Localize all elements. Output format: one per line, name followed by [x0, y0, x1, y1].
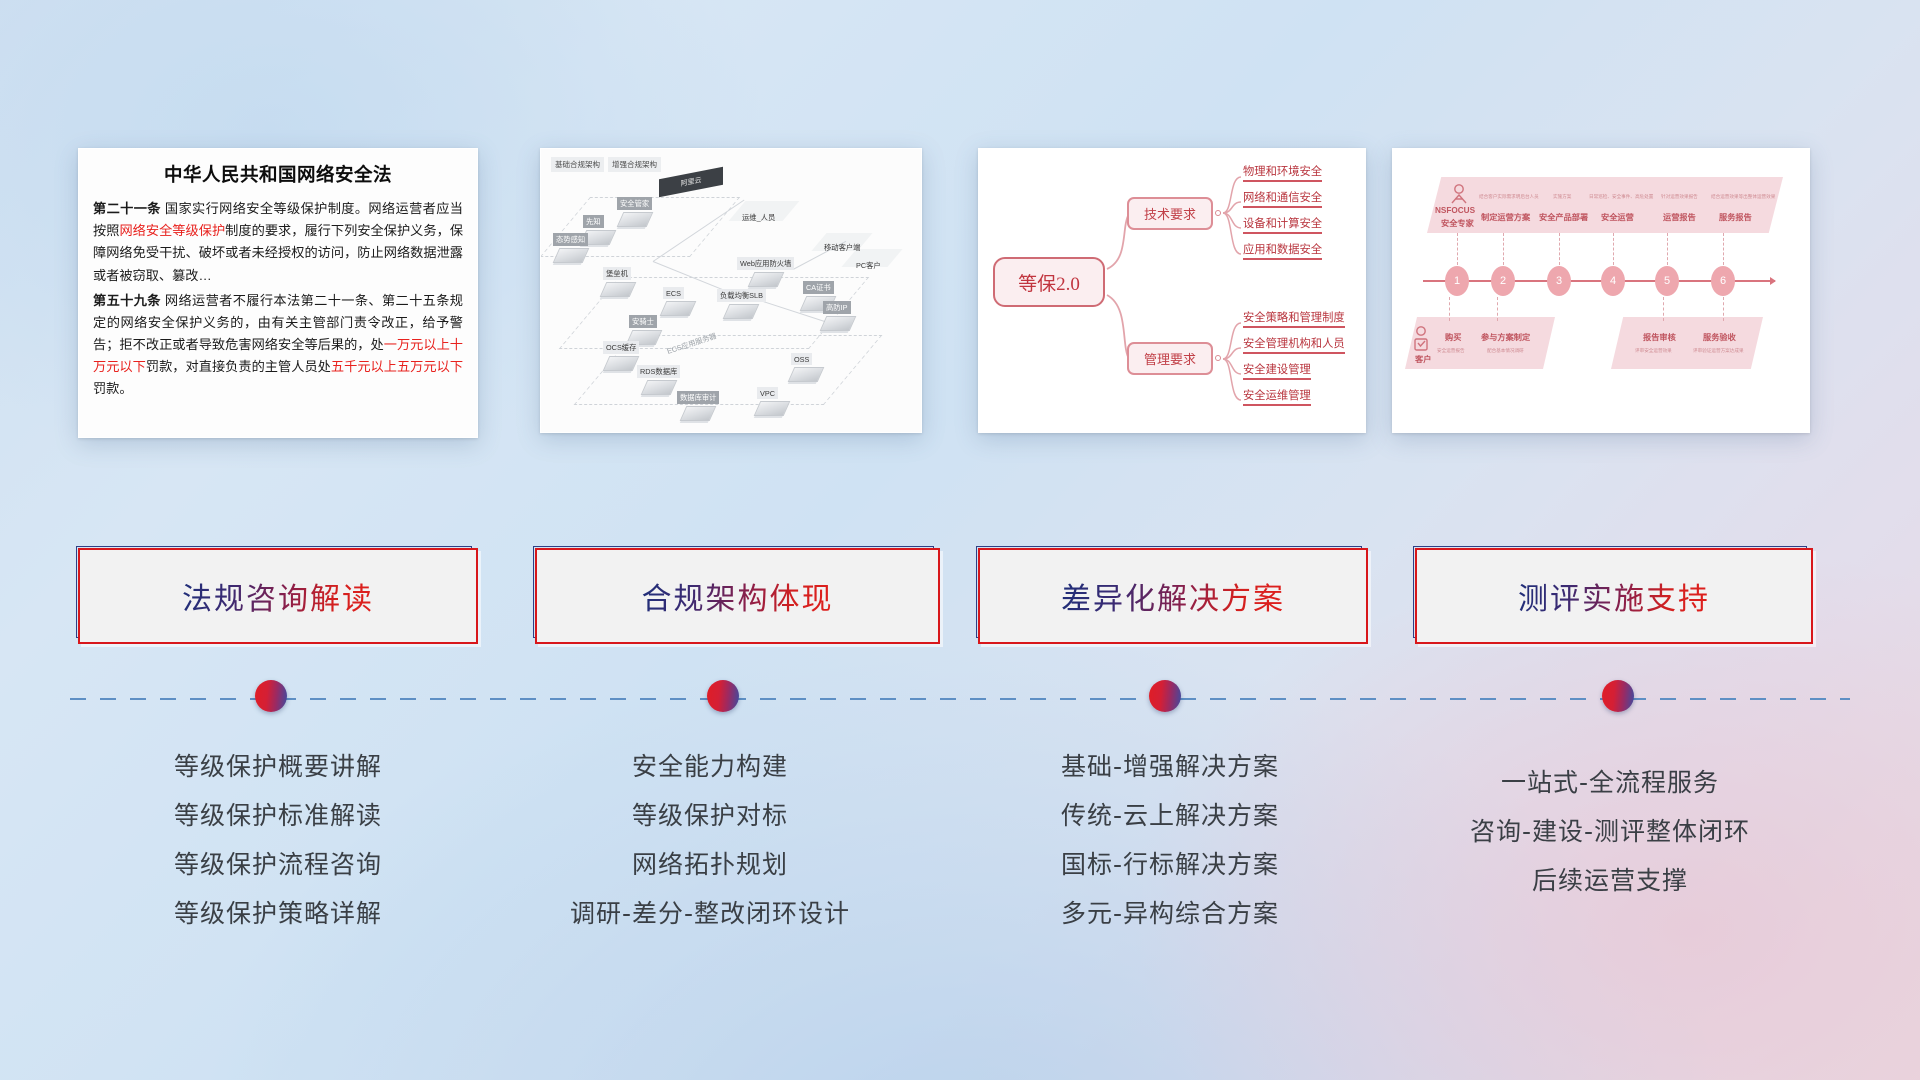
list-item: 等级保护概要讲解: [78, 742, 478, 791]
arch-node-security-butler: 安全管家: [617, 197, 652, 227]
list-item: 咨询-建设-测评整体闭环: [1400, 807, 1820, 856]
article-59-highlight-2: 五千元以上五万元以下: [331, 359, 463, 374]
roadmap-bottom-title-4: 服务验收: [1703, 331, 1736, 343]
cube-icon: [640, 380, 677, 395]
list-item: 调研-差分-整改闭环设计: [500, 889, 920, 938]
mindmap-leaf-app-data: 应用和数据安全: [1243, 241, 1322, 262]
arch-node-bastion-host: 堡垒机: [603, 267, 633, 297]
list-item: 网络拓扑规划: [500, 840, 920, 889]
roadmap-bottom-title-3: 报告审核: [1643, 331, 1676, 343]
arch-node-db-audit: 数据库审计: [677, 391, 719, 421]
arch-node-oss: OSS: [791, 353, 821, 382]
architecture-diagram: 基础合规架构 增强合规架构 阿里云 安全管家 先: [541, 149, 921, 432]
article-21-highlight: 网络安全等级保护: [119, 223, 225, 238]
roadmap-bottom-title-1: 购买: [1445, 331, 1461, 343]
cube-icon: [723, 304, 760, 319]
arch-node-slb: 负载均衡SLB: [717, 289, 766, 319]
roadmap-provider-name-line1: NSFOCUS: [1435, 206, 1475, 215]
roadmap-leader-b2: [1497, 297, 1498, 321]
roadmap-provider-name-line2: 安全专家: [1441, 217, 1474, 229]
cube-icon: [600, 282, 637, 297]
mindmap-leaf-ops-mgmt: 安全运维管理: [1243, 387, 1311, 408]
arch-node-situation-awareness: 态势感知: [553, 233, 588, 263]
article-59-text-b: 罚款，对直接负责的主管人员处: [146, 359, 331, 374]
list-item: 基础-增强解决方案: [960, 742, 1380, 791]
headline-box-regulation-consulting[interactable]: 法规咨询解读: [78, 548, 478, 644]
roadmap-top-title-2: 安全产品部署: [1539, 211, 1588, 223]
cube-icon: [747, 272, 784, 287]
mindmap-collapse-dot-management[interactable]: [1215, 355, 1221, 361]
roadmap-step-1[interactable]: 1: [1445, 266, 1469, 296]
service-roadmap-card[interactable]: NSFOCUS 安全专家 客户 结合客户实际需求明后台人员 制定运营方案 实施方…: [1392, 148, 1810, 433]
mindmap-branch-management[interactable]: 管理要求: [1127, 342, 1213, 375]
mindmap-leaf-physical-env: 物理和环境安全: [1243, 163, 1322, 184]
roadmap-top-title-1: 制定运营方案: [1481, 211, 1530, 223]
mindmap-leaf-device-compute: 设备和计算安全: [1243, 215, 1322, 236]
roadmap-bottom-sub-2: 配合基本情况调研: [1487, 348, 1524, 354]
cube-icon: [616, 212, 653, 227]
slide-canvas: 中华人民共和国网络安全法 第二十一条 国家实行网络安全等级保护制度。网络运营者应…: [0, 0, 1920, 1080]
timeline: [0, 694, 1920, 704]
arch-node-ops-staff: 运维_人员: [739, 211, 778, 224]
cloud-architecture-card[interactable]: 基础合规架构 增强合规架构 阿里云 安全管家 先: [540, 148, 922, 433]
timeline-dot-2[interactable]: [707, 680, 739, 712]
roadmap-leader-5: [1667, 233, 1668, 265]
dengbao-mindmap: 等保2.0 技术要求 物理和环境安全 网络和通信安全 设备和计算安全 应用和数据…: [979, 149, 1365, 432]
headline-label-2: 合规架构体现: [642, 574, 834, 618]
roadmap-step-3[interactable]: 3: [1547, 266, 1571, 296]
cloud-provider-banner: 阿里云: [659, 167, 723, 197]
roadmap-customer-name: 客户: [1415, 353, 1431, 365]
list-item: 后续运营支撑: [1400, 856, 1820, 905]
roadmap-top-sub-3: 日常巡检、安全事件、高危处置: [1589, 194, 1653, 200]
roadmap-leader-6: [1723, 233, 1724, 265]
list-item: 一站式-全流程服务: [1400, 758, 1820, 807]
roadmap-top-sub-2: 实施方案: [1553, 194, 1571, 200]
cube-icon: [680, 406, 717, 421]
headline-label-3: 差异化解决方案: [1061, 574, 1285, 618]
roadmap-bottom-sub-3: 评审安全运营效果: [1635, 348, 1672, 354]
timeline-dot-4[interactable]: [1602, 680, 1634, 712]
roadmap-bottom-sub-4: 评审验证运营方案达成果: [1693, 348, 1744, 354]
law-title: 中华人民共和国网络安全法: [93, 161, 463, 187]
arch-node-ecs: ECS: [663, 287, 693, 316]
cube-icon: [820, 316, 857, 331]
arch-node-pc-client: PC客户: [853, 259, 884, 272]
roadmap-top-sub-5: 结合运营效果等出整体运营效果: [1711, 194, 1775, 200]
cube-icon: [660, 301, 697, 316]
cube-icon: [754, 401, 791, 416]
roadmap-step-2[interactable]: 2: [1491, 266, 1515, 296]
arch-node-waf: Web应用防火墙: [737, 257, 794, 287]
list-item: 多元-异构综合方案: [960, 889, 1380, 938]
cube-icon: [788, 367, 825, 382]
article-21-label: 第二十一条: [93, 201, 161, 216]
roadmap-leader-1: [1457, 233, 1458, 265]
roadmap-top-title-3: 安全运营: [1601, 211, 1634, 223]
timeline-dot-1[interactable]: [255, 680, 287, 712]
list-item: 等级保护标准解读: [78, 791, 478, 840]
nsfocus-roadmap: NSFOCUS 安全专家 客户 结合客户实际需求明后台人员 制定运营方案 实施方…: [1393, 149, 1809, 432]
mindmap-card[interactable]: 等保2.0 技术要求 物理和环境安全 网络和通信安全 设备和计算安全 应用和数据…: [978, 148, 1366, 433]
article-59-label: 第五十九条: [93, 293, 161, 308]
roadmap-top-title-4: 运营报告: [1663, 211, 1696, 223]
roadmap-top-sub-1: 结合客户实际需求明后台人员: [1479, 194, 1539, 200]
timeline-dashed-line: [70, 698, 1850, 700]
headline-label-1: 法规咨询解读: [182, 574, 374, 618]
architecture-tagbar: 基础合规架构 增强合规架构: [551, 157, 661, 172]
arch-tag-basic: 基础合规架构: [551, 157, 604, 172]
roadmap-leader-b4: [1723, 297, 1724, 321]
arch-node-ocs-cache: OCS缓存: [603, 341, 639, 371]
headline-box-assessment-support[interactable]: 测评实施支持: [1415, 548, 1813, 644]
list-item: 传统-云上解决方案: [960, 791, 1380, 840]
cube-icon: [603, 356, 640, 371]
list-item: 安全能力构建: [500, 742, 920, 791]
detail-column-4: 一站式-全流程服务 咨询-建设-测评整体闭环 后续运营支撑: [1400, 758, 1820, 905]
mindmap-collapse-dot-technical[interactable]: [1215, 210, 1221, 216]
arch-tag-enhanced: 增强合规架构: [608, 157, 661, 172]
cube-icon: [552, 248, 589, 263]
detail-list-row: 等级保护概要讲解 等级保护标准解读 等级保护流程咨询 等级保护策略详解 安全能力…: [0, 742, 1920, 962]
roadmap-leader-3: [1559, 233, 1560, 265]
law-text-card[interactable]: 中华人民共和国网络安全法 第二十一条 国家实行网络安全等级保护制度。网络运营者应…: [78, 148, 478, 438]
roadmap-leader-2: [1503, 233, 1504, 265]
list-item: 等级保护策略详解: [78, 889, 478, 938]
detail-column-1: 等级保护概要讲解 等级保护标准解读 等级保护流程咨询 等级保护策略详解: [78, 742, 478, 938]
mindmap-root-node[interactable]: 等保2.0: [993, 257, 1105, 307]
headline-box-differentiated-solution[interactable]: 差异化解决方案: [978, 548, 1368, 644]
timeline-dot-3[interactable]: [1149, 680, 1181, 712]
mindmap-leaf-construction-mgmt: 安全建设管理: [1243, 361, 1311, 382]
mindmap-branch-technical[interactable]: 技术要求: [1127, 197, 1213, 230]
article-59-text-c: 罚款。: [93, 381, 133, 396]
list-item: 等级保护流程咨询: [78, 840, 478, 889]
mindmap-leaf-policy-system: 安全策略和管理制度: [1243, 309, 1345, 330]
image-card-row: 中华人民共和国网络安全法 第二十一条 国家实行网络安全等级保护制度。网络运营者应…: [0, 148, 1920, 448]
law-card-body: 中华人民共和国网络安全法 第二十一条 国家实行网络安全等级保护制度。网络运营者应…: [79, 149, 477, 412]
arch-node-rds-database: RDS数据库: [637, 365, 680, 395]
roadmap-top-title-5: 服务报告: [1719, 211, 1752, 223]
arch-node-mobile-client: 移动客户端: [821, 241, 863, 254]
arch-node-anti-ddos-ip: 高防IP: [823, 301, 853, 331]
list-item: 等级保护对标: [500, 791, 920, 840]
law-article-59: 第五十九条 网络运营者不履行本法第二十一条、第二十五条规定的网络安全保护义务的，…: [93, 290, 463, 401]
roadmap-leader-b1: [1449, 297, 1450, 321]
roadmap-leader-4: [1613, 233, 1614, 265]
roadmap-bottom-sub-1: 安全运营报告: [1437, 348, 1465, 354]
roadmap-step-6[interactable]: 6: [1711, 266, 1735, 296]
arch-node-vpc: VPC: [757, 387, 787, 416]
detail-column-3: 基础-增强解决方案 传统-云上解决方案 国标-行标解决方案 多元-异构综合方案: [960, 742, 1380, 938]
roadmap-top-sub-4: 针对运营效果报告: [1661, 194, 1698, 200]
law-article-21: 第二十一条 国家实行网络安全等级保护制度。网络运营者应当按照网络安全等级保护制度…: [93, 198, 463, 287]
headline-label-4: 测评实施支持: [1518, 574, 1710, 618]
headline-box-compliance-architecture[interactable]: 合规架构体现: [535, 548, 940, 644]
headline-row: 法规咨询解读 合规架构体现 差异化解决方案 测评实施支持: [0, 548, 1920, 648]
roadmap-step-4[interactable]: 4: [1601, 266, 1625, 296]
list-item: 国标-行标解决方案: [960, 840, 1380, 889]
roadmap-step-5[interactable]: 5: [1655, 266, 1679, 296]
mindmap-leaf-network-comm: 网络和通信安全: [1243, 189, 1322, 210]
mindmap-leaf-org-personnel: 安全管理机构和人员: [1243, 335, 1345, 356]
roadmap-bottom-title-2: 参与方案制定: [1481, 331, 1530, 343]
roadmap-leader-b3: [1663, 297, 1664, 321]
detail-column-2: 安全能力构建 等级保护对标 网络拓扑规划 调研-差分-整改闭环设计: [500, 742, 920, 938]
